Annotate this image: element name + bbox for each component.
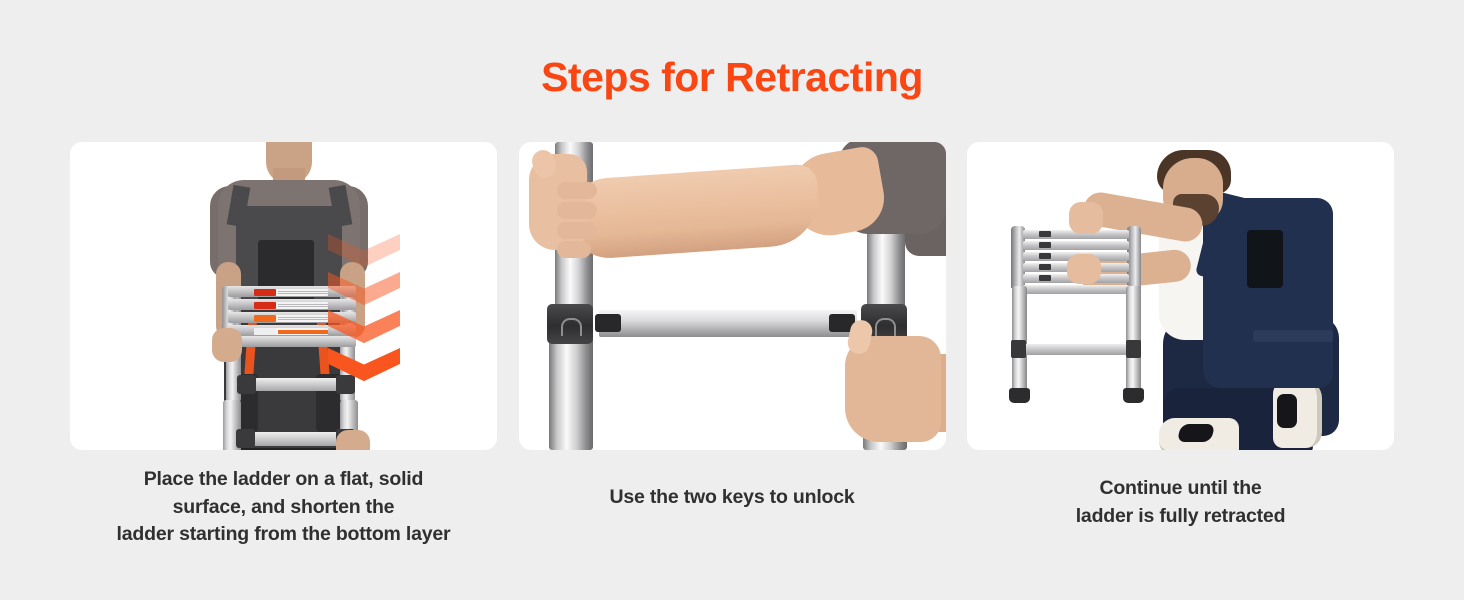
finger bbox=[557, 241, 591, 258]
ladder-rung-middle bbox=[242, 432, 340, 446]
warning-label-2 bbox=[254, 302, 328, 309]
step-image-card-2 bbox=[519, 142, 946, 450]
warning-text-lines-1 bbox=[278, 291, 328, 295]
infographic-page: Steps for Retracting bbox=[0, 0, 1464, 600]
warning-badge-1 bbox=[254, 289, 276, 296]
finger bbox=[557, 182, 597, 199]
unlock-keys-illustration bbox=[519, 142, 946, 450]
ladder-tab-3 bbox=[1039, 253, 1051, 259]
chevron-down-icon-3 bbox=[328, 310, 400, 346]
warning-badge-4 bbox=[254, 328, 276, 335]
ladder-tab-2 bbox=[1039, 242, 1051, 248]
person-forearm bbox=[566, 163, 821, 260]
chevron-down-icon-2 bbox=[328, 272, 400, 308]
step-caption-2: Use the two keys to unlock bbox=[512, 484, 952, 512]
caption-line: ladder starting from the bottom layer bbox=[64, 521, 504, 549]
caption-line: Place the ladder on a flat, solid bbox=[64, 466, 504, 494]
person-hand-upper bbox=[1069, 202, 1103, 234]
ladder-bar-6 bbox=[1023, 285, 1129, 294]
step-panel-3: Continue until the ladder is fully retra… bbox=[967, 142, 1394, 549]
ladder-rung bbox=[599, 310, 857, 337]
person-hand-left bbox=[212, 328, 242, 362]
warning-text-lines-3 bbox=[278, 317, 328, 321]
warning-label-1 bbox=[254, 289, 328, 296]
step-panel-2: Use the two keys to unlock bbox=[519, 142, 946, 549]
ladder-standing-illustration bbox=[70, 142, 497, 450]
warning-label-4 bbox=[254, 328, 328, 335]
finger bbox=[557, 202, 597, 219]
step-image-card-1 bbox=[70, 142, 497, 450]
ladder-side-right bbox=[1127, 226, 1141, 288]
person-shoe-back bbox=[1273, 380, 1322, 448]
warning-text-lines-4 bbox=[278, 330, 328, 334]
caption-line: surface, and shorten the bbox=[64, 494, 504, 522]
ladder-foot-right bbox=[1123, 388, 1144, 403]
step-caption-1: Place the ladder on a flat, solid surfac… bbox=[64, 466, 504, 549]
ladder-rung-upper bbox=[242, 378, 340, 391]
ladder-foot-left bbox=[1009, 388, 1030, 403]
caption-line: Use the two keys to unlock bbox=[512, 484, 952, 512]
person-shoe-front bbox=[1159, 418, 1239, 450]
person-hand-lower bbox=[1067, 254, 1101, 284]
rung-clamp-left bbox=[547, 304, 593, 344]
page-title: Steps for Retracting bbox=[0, 55, 1464, 100]
warning-text-lines-2 bbox=[278, 304, 328, 308]
step-panel-1: Place the ladder on a flat, solid surfac… bbox=[70, 142, 497, 549]
release-key-left[interactable] bbox=[595, 314, 621, 332]
ladder-tab-5 bbox=[1039, 275, 1051, 281]
caption-line: Continue until the bbox=[961, 475, 1401, 503]
ladder-clip-right bbox=[1126, 340, 1141, 358]
retracted-ladder-illustration bbox=[967, 142, 1394, 450]
chevron-down-icon-1 bbox=[328, 234, 400, 270]
rung-lock-middle-left bbox=[236, 429, 255, 448]
ladder-tab-4 bbox=[1039, 264, 1051, 270]
warning-badge-3 bbox=[254, 315, 276, 322]
person-hand-right bbox=[336, 430, 370, 450]
ladder-clip-left bbox=[1011, 340, 1026, 358]
person-trousers-lower bbox=[230, 448, 350, 450]
finger bbox=[557, 222, 597, 239]
ladder-tab-1 bbox=[1039, 231, 1051, 237]
overall-back-patch bbox=[1247, 230, 1283, 288]
step-image-card-3 bbox=[967, 142, 1394, 450]
warning-badge-2 bbox=[254, 302, 276, 309]
steps-row: Place the ladder on a flat, solid surfac… bbox=[70, 142, 1394, 549]
chevron-down-icon-4 bbox=[328, 348, 400, 384]
caption-line: ladder is fully retracted bbox=[961, 503, 1401, 531]
overall-belt bbox=[1253, 330, 1333, 342]
step-caption-3: Continue until the ladder is fully retra… bbox=[961, 475, 1401, 530]
ladder-bottom-rung bbox=[1019, 344, 1131, 355]
warning-label-3 bbox=[254, 315, 328, 322]
rung-lock-upper-left bbox=[237, 375, 256, 394]
downward-arrows-group bbox=[328, 234, 400, 402]
